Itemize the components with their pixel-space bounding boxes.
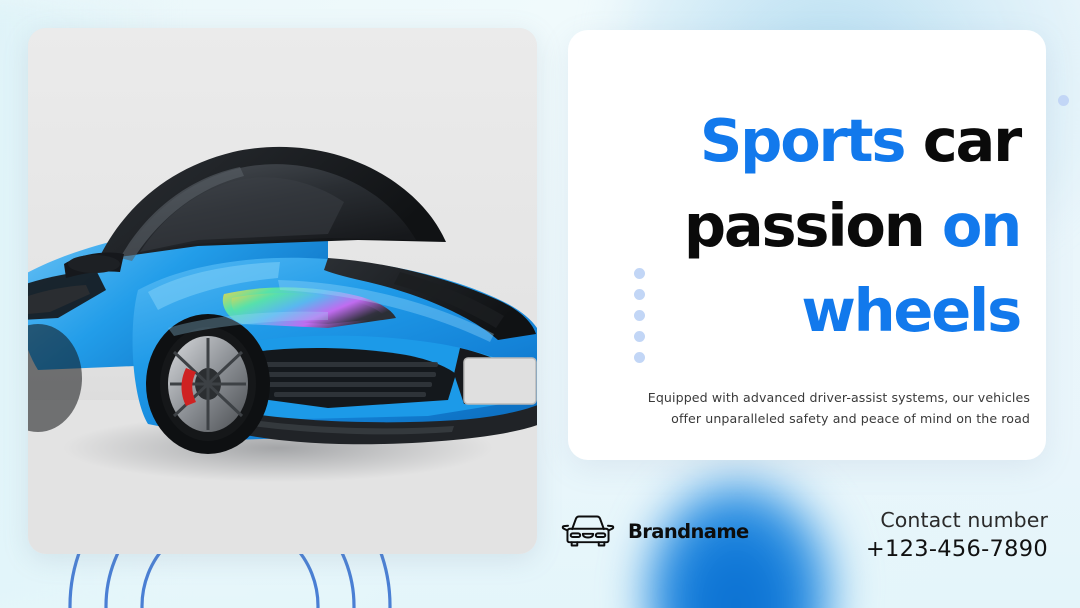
decorative-dot — [634, 310, 645, 321]
right-edge-dot-decoration — [1058, 95, 1069, 106]
body-paragraph: Equipped with advanced driver-assist sys… — [645, 387, 1030, 429]
dot-column-decoration — [634, 268, 645, 363]
headline-word-on: on — [942, 191, 1020, 260]
decorative-dot — [634, 289, 645, 300]
decorative-dot — [634, 331, 645, 342]
headline-word-car: car — [923, 106, 1020, 175]
brand-name-label: Brandname — [628, 520, 749, 543]
car-front-icon — [560, 512, 616, 550]
contact-number: +123-456-7890 — [866, 534, 1048, 564]
headline-word-passion: passion — [684, 191, 924, 260]
page-title: Sports car passion on wheels — [600, 98, 1020, 353]
decorative-dot — [634, 352, 645, 363]
decorative-dot — [634, 268, 645, 279]
headline-word-wheels: wheels — [801, 276, 1020, 345]
brand-lockup: Brandname — [560, 512, 749, 550]
hero-photo-card — [28, 28, 537, 554]
contact-block: Contact number +123-456-7890 — [866, 506, 1048, 564]
contact-label: Contact number — [866, 506, 1048, 534]
headline-word-sports: Sports — [700, 106, 904, 175]
poster-canvas: Sports car passion on wheels Equipped wi… — [0, 0, 1080, 608]
